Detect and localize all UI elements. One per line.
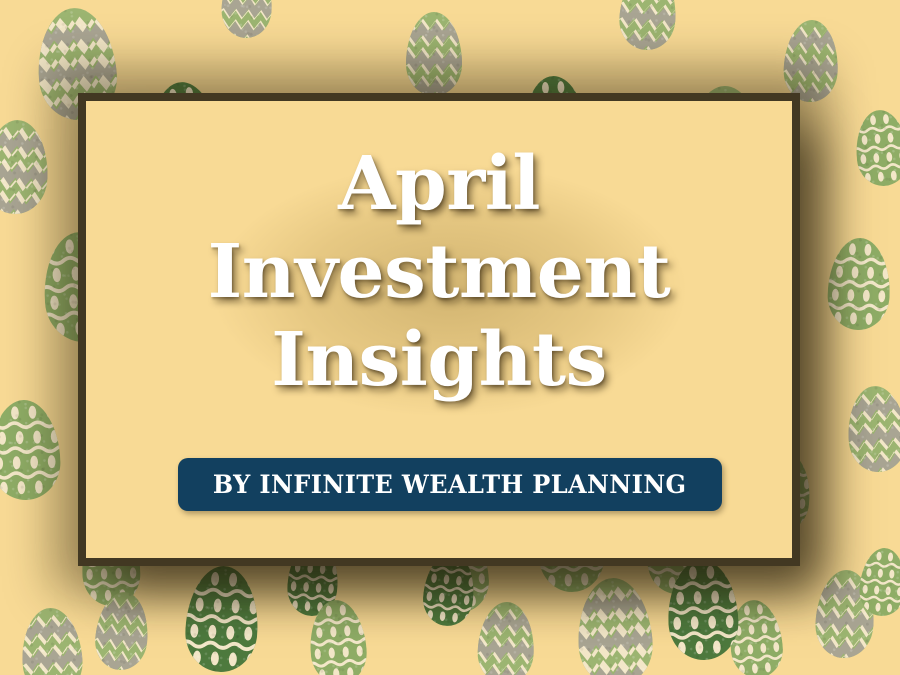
easter-egg-chevron xyxy=(783,19,840,103)
title-line-2: Investment xyxy=(85,228,793,316)
easter-egg-chevron xyxy=(220,0,274,39)
easter-egg-wave-dots-light xyxy=(0,399,62,501)
easter-egg-chevron xyxy=(0,118,50,215)
byline-banner: BY INFINITE WEALTH PLANNING xyxy=(178,458,722,511)
easter-egg-chevron xyxy=(477,601,536,675)
easter-egg-wave-dots-light xyxy=(826,237,891,331)
byline-text: BY INFINITE WEALTH PLANNING xyxy=(213,470,687,499)
easter-egg-chevron xyxy=(845,384,900,474)
poster-canvas: April Investment Insights BY INFINITE WE… xyxy=(0,0,900,675)
easter-egg-wave-dots-light xyxy=(858,546,900,617)
easter-egg-wave-dots-light xyxy=(307,598,369,675)
easter-egg-wave-dots-dark xyxy=(183,564,260,674)
easter-egg-wave-dots-dark xyxy=(666,559,739,661)
title-line-1: April xyxy=(85,140,793,228)
easter-egg-chevron xyxy=(406,12,462,96)
page-title: April Investment Insights xyxy=(85,140,793,404)
easter-egg-chevron xyxy=(575,576,655,675)
easter-egg-chevron xyxy=(20,606,85,675)
easter-egg-chevron xyxy=(617,0,678,52)
easter-egg-chevron xyxy=(93,590,152,672)
easter-egg-wave-dots-light xyxy=(853,108,900,188)
title-line-3: Insights xyxy=(85,316,793,404)
